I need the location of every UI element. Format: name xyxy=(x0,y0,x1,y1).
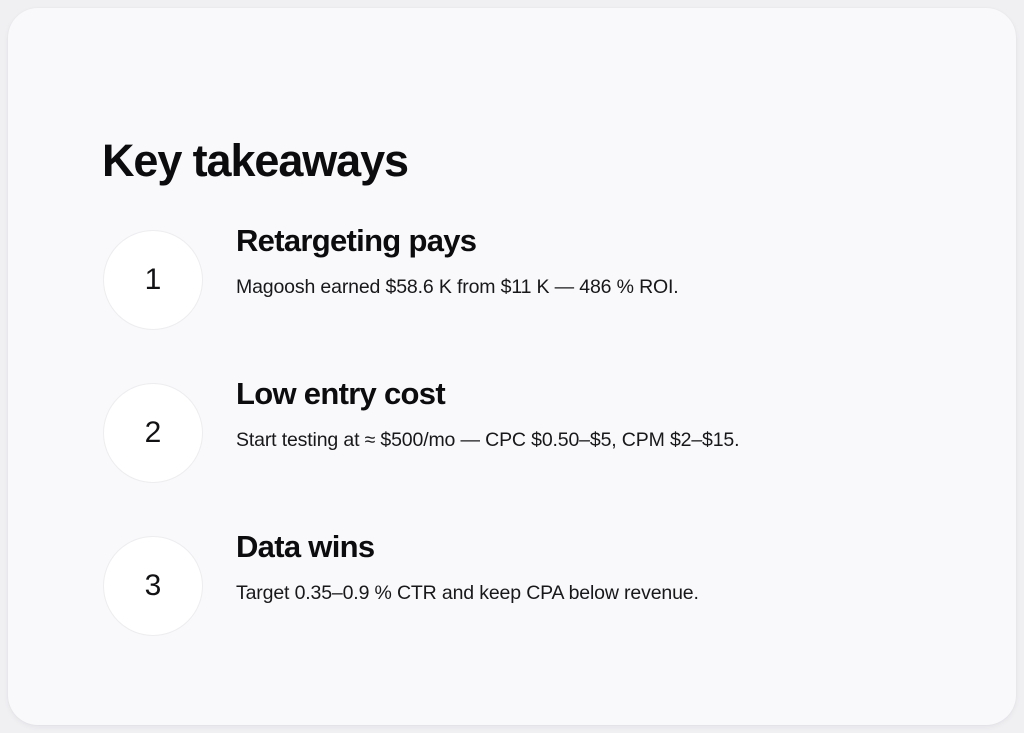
takeaway-number-badge: 3 xyxy=(103,536,203,636)
page-title: Key takeaways xyxy=(102,134,408,188)
badge-number: 3 xyxy=(145,571,162,601)
takeaway-title: Retargeting pays xyxy=(236,222,976,261)
takeaway-content: Data wins Target 0.35–0.9 % CTR and keep… xyxy=(236,528,976,606)
list-item: 2 Low entry cost Start testing at ≈ $500… xyxy=(103,375,976,528)
takeaway-title: Low entry cost xyxy=(236,375,976,414)
takeaway-number-badge: 1 xyxy=(103,230,203,330)
takeaway-description: Start testing at ≈ $500/mo — CPC $0.50–$… xyxy=(236,427,976,453)
takeaway-list: 1 Retargeting pays Magoosh earned $58.6 … xyxy=(103,222,976,681)
takeaway-description: Target 0.35–0.9 % CTR and keep CPA below… xyxy=(236,580,976,606)
badge-number: 1 xyxy=(145,265,162,295)
key-takeaways-card: Key takeaways 1 Retargeting pays Magoosh… xyxy=(8,8,1016,725)
takeaway-number-badge: 2 xyxy=(103,383,203,483)
list-item: 1 Retargeting pays Magoosh earned $58.6 … xyxy=(103,222,976,375)
takeaway-content: Low entry cost Start testing at ≈ $500/m… xyxy=(236,375,976,453)
list-item: 3 Data wins Target 0.35–0.9 % CTR and ke… xyxy=(103,528,976,681)
takeaway-title: Data wins xyxy=(236,528,976,567)
page-background: Key takeaways 1 Retargeting pays Magoosh… xyxy=(0,0,1024,733)
takeaway-description: Magoosh earned $58.6 K from $11 K — 486 … xyxy=(236,274,976,300)
badge-number: 2 xyxy=(145,418,162,448)
takeaway-content: Retargeting pays Magoosh earned $58.6 K … xyxy=(236,222,976,300)
